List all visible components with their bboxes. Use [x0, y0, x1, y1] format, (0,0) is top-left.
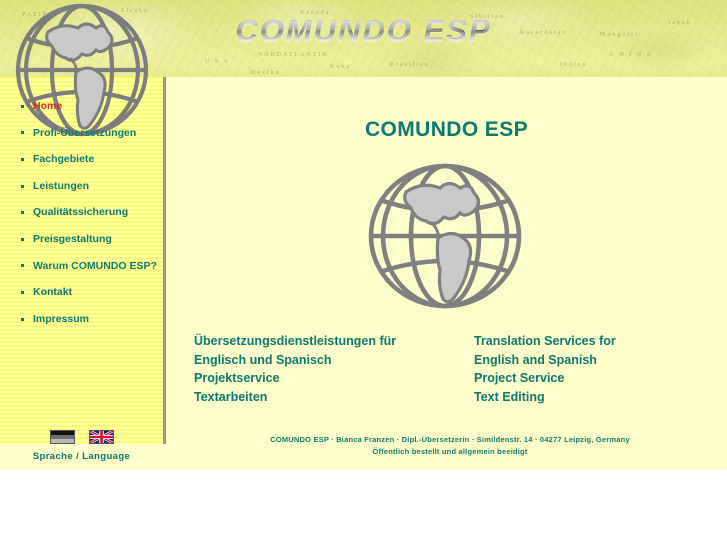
- map-label: U S A: [205, 59, 230, 65]
- map-label: C H I N A: [610, 52, 653, 58]
- map-label: Kuba: [330, 64, 351, 70]
- bullet-icon: [21, 185, 24, 188]
- map-label: Indien: [560, 62, 587, 68]
- globe-icon: [356, 158, 534, 318]
- page-root: PAZIFIKU S ANORDATLANTIKAlaskaKanadaMexi…: [0, 0, 727, 545]
- sidebar-item-qualit-tssicherung[interactable]: Qualitätssicherung: [0, 199, 163, 226]
- map-label: NORDATLANTIK: [258, 52, 329, 58]
- sidebar-item-label: Fachgebiete: [33, 154, 94, 165]
- bullet-icon: [21, 105, 24, 108]
- service-line-en: English and Spanish: [474, 351, 714, 370]
- sidebar-item-label: Impressum: [33, 314, 89, 325]
- service-line-de: Übersetzungsdienstleistungen für: [194, 332, 474, 351]
- service-line-en: Text Editing: [474, 388, 714, 407]
- sidebar-item-label: Home: [33, 101, 62, 112]
- service-line-en: Project Service: [474, 369, 714, 388]
- sidebar-item-kontakt[interactable]: Kontakt: [0, 279, 163, 306]
- sidebar-item-leistungen[interactable]: Leistungen: [0, 173, 163, 200]
- bullet-icon: [21, 291, 24, 294]
- bullet-icon: [21, 158, 24, 161]
- sidebar-item-impressum[interactable]: Impressum: [0, 306, 163, 333]
- bullet-icon: [21, 318, 24, 321]
- sidebar-item-label: Qualitätssicherung: [33, 207, 128, 218]
- sidebar-item-label: Warum COMUNDO ESP?: [33, 261, 157, 272]
- sidebar-item-home[interactable]: Home: [0, 93, 163, 120]
- bullet-icon: [21, 238, 24, 241]
- sidebar-item-warum-comundo-esp[interactable]: Warum COMUNDO ESP?: [0, 253, 163, 280]
- bullet-icon: [21, 131, 24, 134]
- flag-english-icon[interactable]: [89, 430, 114, 444]
- service-line-de: Englisch und Spanisch: [194, 351, 474, 370]
- sidebar-item-label: Preisgestaltung: [33, 234, 112, 245]
- service-line-en: Translation Services for: [474, 332, 714, 351]
- sidebar-item-fachgebiete[interactable]: Fachgebiete: [0, 146, 163, 173]
- sidebar-item-label: Leistungen: [33, 181, 89, 192]
- footer-certification-line: Öffentlich bestellt und allgemein beeidi…: [180, 446, 720, 458]
- services-column-german: Übersetzungsdienstleistungen fürEnglisch…: [194, 332, 474, 406]
- services-block: Übersetzungsdienstleistungen fürEnglisch…: [194, 332, 714, 406]
- sidebar-item-profi-bersetzungen[interactable]: Profi-Übersetzungen: [0, 120, 163, 147]
- page-title: COMUNDO ESP: [166, 118, 727, 142]
- service-line-de: Textarbeiten: [194, 388, 474, 407]
- sidebar-item-label: Kontakt: [33, 287, 72, 298]
- service-line-de: Projektservice: [194, 369, 474, 388]
- footer-contact-line: COMUNDO ESP · Bianca Franzen · Dipl.-Übe…: [180, 434, 720, 446]
- flag-german-icon[interactable]: [50, 430, 75, 444]
- services-column-english: Translation Services forEnglish and Span…: [474, 332, 714, 406]
- bullet-icon: [21, 211, 24, 214]
- language-caption: Sprache / Language: [0, 451, 163, 462]
- sidebar-nav: HomeProfi-ÜbersetzungenFachgebieteLeistu…: [0, 93, 163, 332]
- sidebar-item-preisgestaltung[interactable]: Preisgestaltung: [0, 226, 163, 253]
- footer: COMUNDO ESP · Bianca Franzen · Dipl.-Übe…: [180, 434, 720, 458]
- site-title: COMUNDO ESP: [0, 13, 727, 49]
- header-banner: PAZIFIKU S ANORDATLANTIKAlaskaKanadaMexi…: [0, 0, 727, 77]
- map-label: Brasilien: [390, 62, 430, 68]
- language-switcher: [0, 430, 163, 444]
- map-label: Mexiko: [250, 70, 281, 76]
- sidebar-item-label: Profi-Übersetzungen: [33, 128, 136, 139]
- bullet-icon: [21, 264, 24, 267]
